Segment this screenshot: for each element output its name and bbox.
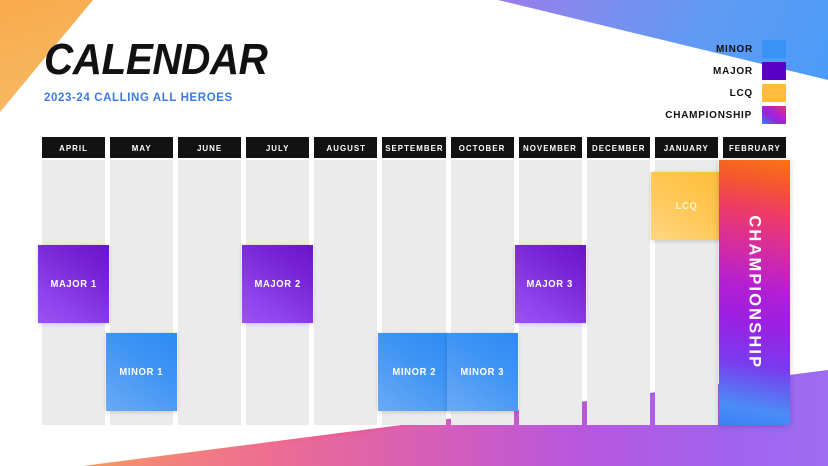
month-header-label: SEPTEMBER bbox=[385, 143, 443, 153]
legend-item: MAJOR bbox=[663, 62, 786, 80]
event-block-label: MAJOR 1 bbox=[50, 279, 96, 290]
month-header-june[interactable]: JUNE bbox=[178, 137, 241, 158]
legend: MINORMAJORLCQCHAMPIONSHIP bbox=[663, 40, 786, 124]
month-header-label: DECEMBER bbox=[592, 143, 645, 153]
event-block-championship[interactable]: CHAMPIONSHIP bbox=[719, 160, 790, 425]
page-subtitle: 2023-24 CALLING ALL HEROES bbox=[44, 92, 287, 104]
event-block-minor-3[interactable]: MINOR 3 bbox=[447, 333, 518, 411]
month-header-label: OCTOBER bbox=[459, 143, 506, 153]
month-header-label: MAY bbox=[132, 143, 152, 153]
month-header-july[interactable]: JULY bbox=[246, 137, 309, 158]
event-block-label: MAJOR 3 bbox=[527, 279, 573, 290]
month-header-label: JUNE bbox=[197, 143, 222, 153]
event-block-major-3[interactable]: MAJOR 3 bbox=[515, 245, 586, 323]
legend-item-label: MINOR bbox=[716, 43, 753, 55]
legend-item: LCQ bbox=[663, 84, 786, 102]
month-header-december[interactable]: DECEMBER bbox=[587, 137, 650, 158]
legend-swatch-championship bbox=[762, 106, 786, 124]
legend-item-label: CHAMPIONSHIP bbox=[665, 109, 752, 121]
month-header-october[interactable]: OCTOBER bbox=[451, 137, 514, 158]
month-header-label: FEBRUARY bbox=[729, 143, 781, 153]
championship-label: CHAMPIONSHIP bbox=[744, 216, 764, 370]
month-header-september[interactable]: SEPTEMBER bbox=[382, 137, 445, 158]
calendar-infographic: CALENDAR 2023-24 CALLING ALL HEROES MINO… bbox=[0, 0, 828, 466]
calendar-column-december: DECEMBER bbox=[587, 137, 650, 425]
page-title: CALENDAR bbox=[44, 38, 267, 82]
month-header-label: JULY bbox=[266, 143, 290, 153]
calendar-column-august: AUGUST bbox=[314, 137, 377, 425]
month-header-february[interactable]: FEBRUARY bbox=[723, 137, 786, 158]
event-block-minor-1[interactable]: MINOR 1 bbox=[106, 333, 177, 411]
event-block-label: MINOR 3 bbox=[460, 367, 504, 378]
title-block: CALENDAR 2023-24 CALLING ALL HEROES bbox=[44, 38, 287, 104]
legend-swatch-major bbox=[762, 62, 786, 80]
legend-swatch-lcq bbox=[762, 84, 786, 102]
event-block-label: MINOR 1 bbox=[120, 367, 164, 378]
calendar-column-june: JUNE bbox=[178, 137, 241, 425]
month-header-january[interactable]: JANUARY bbox=[655, 137, 718, 158]
event-block-label: MINOR 2 bbox=[392, 367, 436, 378]
month-header-label: NOVEMBER bbox=[523, 143, 577, 153]
calendar-grid: APRILMAYJUNEJULYAUGUSTSEPTEMBEROCTOBERNO… bbox=[42, 137, 786, 425]
legend-item: CHAMPIONSHIP bbox=[663, 106, 786, 124]
month-header-april[interactable]: APRIL bbox=[42, 137, 105, 158]
legend-item-label: MAJOR bbox=[713, 65, 753, 77]
legend-swatch-minor bbox=[762, 40, 786, 58]
calendar-column-body bbox=[178, 160, 241, 425]
event-block-major-1[interactable]: MAJOR 1 bbox=[38, 245, 109, 323]
legend-item-label: LCQ bbox=[730, 87, 753, 99]
legend-item: MINOR bbox=[663, 40, 786, 58]
month-header-label: JANUARY bbox=[664, 143, 709, 153]
calendar-column-body bbox=[314, 160, 377, 425]
event-block-label: LCQ bbox=[675, 201, 697, 212]
month-header-may[interactable]: MAY bbox=[110, 137, 173, 158]
event-block-label: MAJOR 2 bbox=[255, 279, 301, 290]
month-header-august[interactable]: AUGUST bbox=[314, 137, 377, 158]
event-block-minor-2[interactable]: MINOR 2 bbox=[378, 333, 449, 411]
month-header-label: APRIL bbox=[59, 143, 88, 153]
event-block-major-2[interactable]: MAJOR 2 bbox=[242, 245, 313, 323]
calendar-column-body bbox=[587, 160, 650, 425]
event-block-lcq[interactable]: LCQ bbox=[651, 172, 722, 240]
month-header-label: AUGUST bbox=[326, 143, 366, 153]
month-header-november[interactable]: NOVEMBER bbox=[519, 137, 582, 158]
